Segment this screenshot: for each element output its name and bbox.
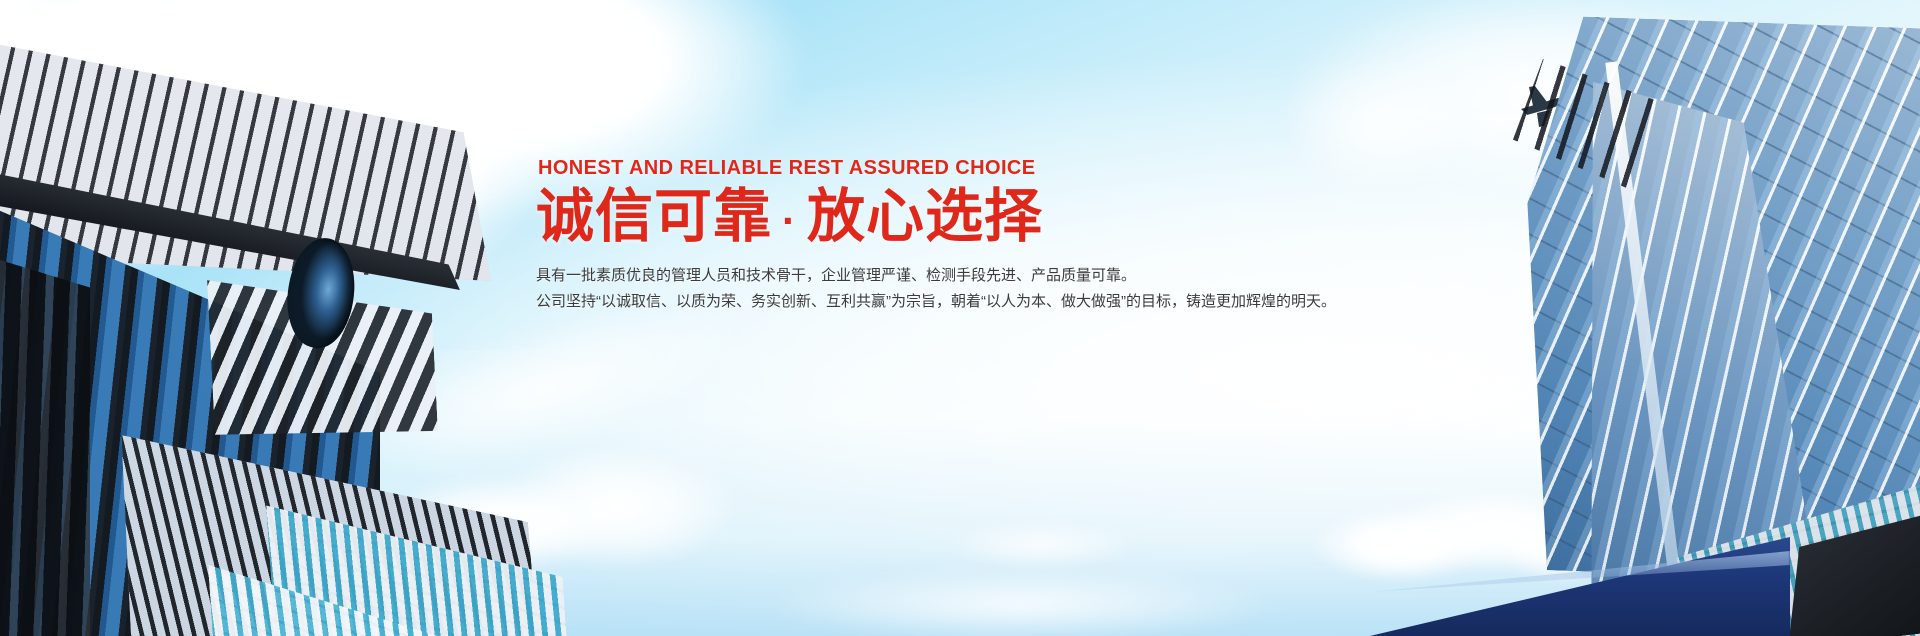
hero-banner: HONEST AND RELIABLE REST ASSURED CHOICE …: [0, 0, 1920, 636]
left-building-dark-columns: [0, 232, 90, 636]
banner-copy-block: HONEST AND RELIABLE REST ASSURED CHOICE …: [536, 156, 1356, 316]
headline-right-text: 放心选择: [807, 184, 1043, 249]
banner-eyebrow-text: HONEST AND RELIABLE REST ASSURED CHOICE: [538, 156, 1356, 180]
cloud-bottom-center-icon: [760, 560, 1280, 636]
headline-left-text: 诚信可靠: [536, 184, 772, 249]
description-line-1: 具有一批素质优良的管理人员和技术骨干，企业管理严谨、检测手段先进、产品质量可靠。: [536, 263, 1356, 290]
cloud-small-center-icon: [940, 520, 1140, 570]
skyscraper-right: [1510, 20, 1920, 636]
skyscraper-left: [0, 60, 530, 636]
headline-separator-dot: ·: [772, 197, 807, 244]
banner-headline: 诚信可靠·放心选择: [536, 186, 1356, 249]
banner-description: 具有一批素质优良的管理人员和技术骨干，企业管理严谨、检测手段先进、产品质量可靠。…: [536, 263, 1356, 316]
description-line-2: 公司坚持“以诚取信、以质为荣、务实创新、互利共赢”为宗旨，朝着“以人为本、做大做…: [536, 289, 1356, 316]
